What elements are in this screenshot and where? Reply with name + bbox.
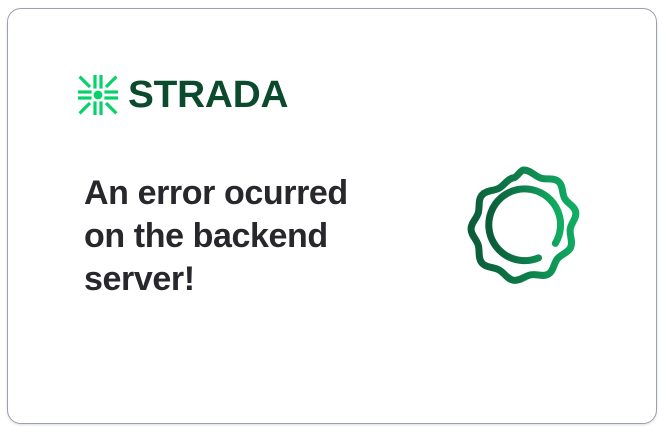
gear-icon xyxy=(446,149,602,305)
brand-wordmark: STRADA xyxy=(128,75,288,115)
error-card: STRADA An error ocurred on the backend s… xyxy=(7,8,657,424)
error-message: An error ocurred on the backend server! xyxy=(84,172,384,301)
brand-logo: STRADA xyxy=(78,75,285,115)
strada-asterisk-mark-icon xyxy=(78,75,118,115)
